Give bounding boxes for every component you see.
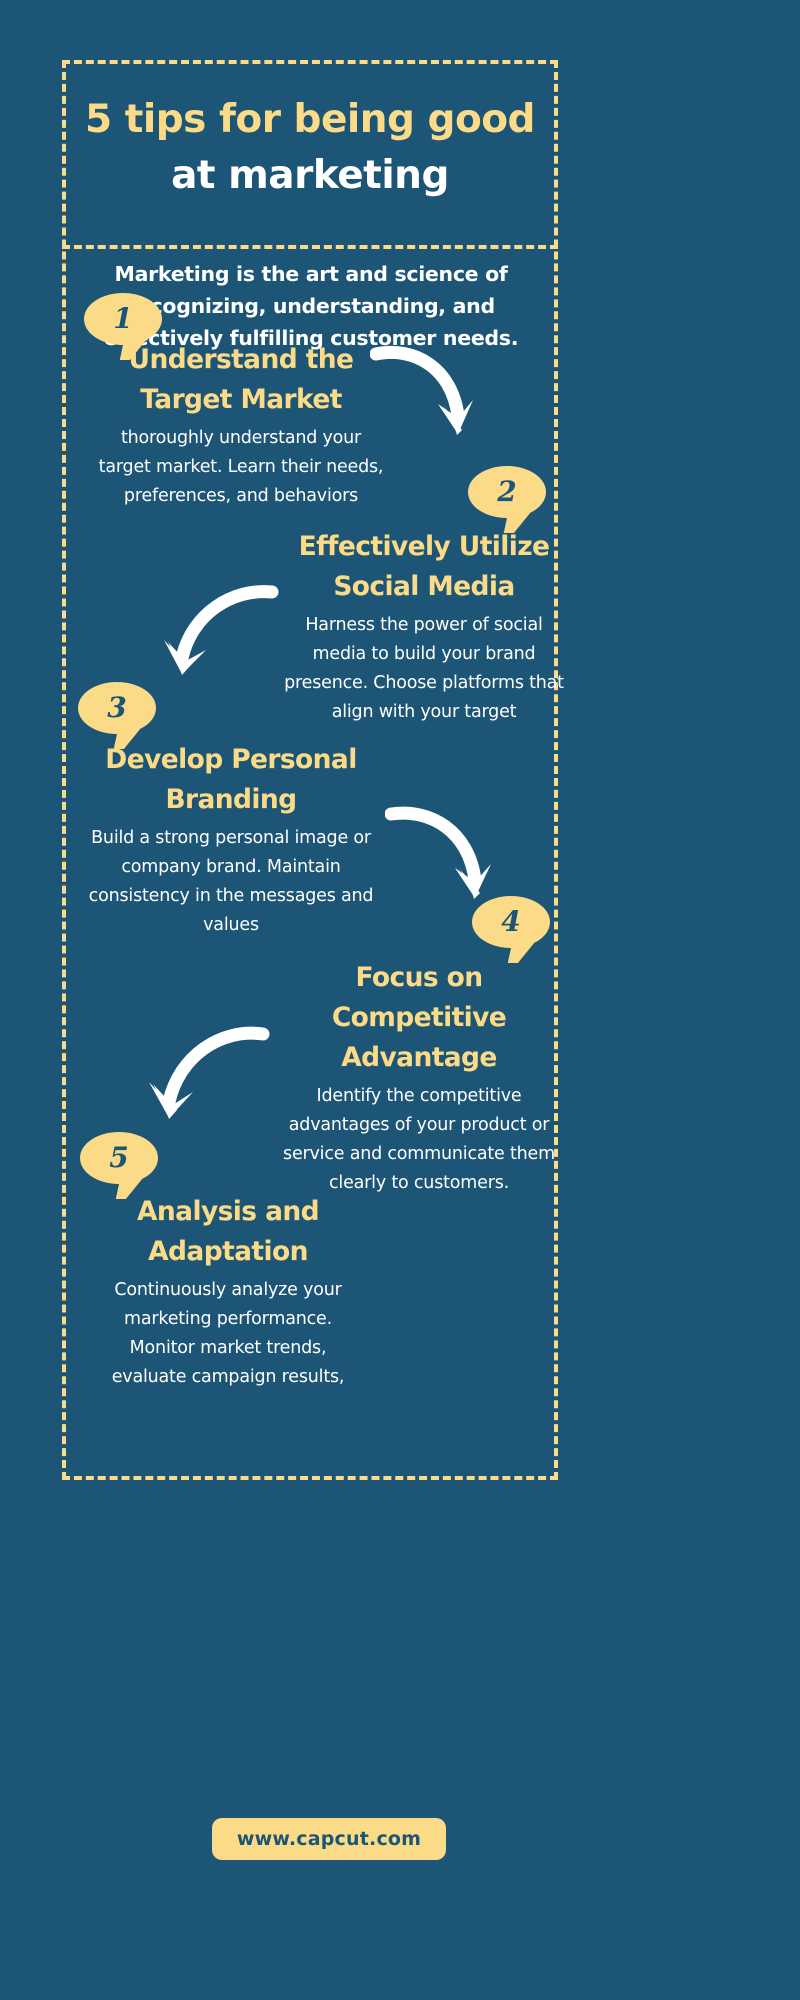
step-heading-5: Analysis and Adaptation [70, 1192, 386, 1272]
step-number-4: 4 [501, 908, 520, 936]
step-body-1: thoroughly understand your target market… [96, 424, 386, 511]
step-number-3: 3 [107, 694, 126, 722]
step-number-5: 5 [109, 1144, 128, 1172]
step-number-2: 2 [497, 478, 516, 506]
curved-arrow-down-right-icon-2 [385, 800, 500, 920]
website-cta-button[interactable]: www.capcut.com [212, 1818, 446, 1860]
step-block-5: Analysis and Adaptation Continuously ana… [70, 1192, 386, 1392]
infographic-poster: 5 tips for being good at marketing Marke… [0, 0, 800, 2000]
curved-arrow-down-left-icon [160, 582, 280, 692]
title-line-2: at marketing [62, 148, 558, 204]
step-badge-4: 4 [472, 896, 550, 948]
step-block-4: Focus on Competitive Advantage Identify … [270, 958, 568, 1198]
step-badge-5: 5 [80, 1132, 158, 1184]
curved-arrow-down-left-icon-2 [145, 1022, 270, 1137]
step-block-2: Effectively Utilize Social Media Harness… [280, 527, 568, 727]
step-heading-2: Effectively Utilize Social Media [280, 527, 568, 607]
website-cta-label: www.capcut.com [237, 1828, 421, 1850]
step-heading-1: Understand the Target Market [96, 340, 386, 420]
step-block-3: Develop Personal Branding Build a strong… [86, 740, 376, 940]
step-body-5: Continuously analyze your marketing perf… [70, 1276, 386, 1392]
page-title: 5 tips for being good at marketing [62, 92, 558, 204]
title-line-1: 5 tips for being good [62, 92, 558, 148]
step-body-4: Identify the competitive advantages of y… [270, 1082, 568, 1198]
step-heading-3: Develop Personal Branding [86, 740, 376, 820]
step-badge-3: 3 [78, 682, 156, 734]
title-divider-rule [62, 245, 558, 249]
step-body-3: Build a strong personal image or company… [86, 824, 376, 940]
step-number-1: 1 [113, 305, 132, 333]
step-body-2: Harness the power of social media to bui… [280, 611, 568, 727]
curved-arrow-down-right-icon [370, 338, 480, 458]
step-badge-1: 1 [84, 293, 162, 345]
step-badge-2: 2 [468, 466, 546, 518]
step-heading-4: Focus on Competitive Advantage [270, 958, 568, 1078]
step-block-1: Understand the Target Market thoroughly … [96, 340, 386, 511]
